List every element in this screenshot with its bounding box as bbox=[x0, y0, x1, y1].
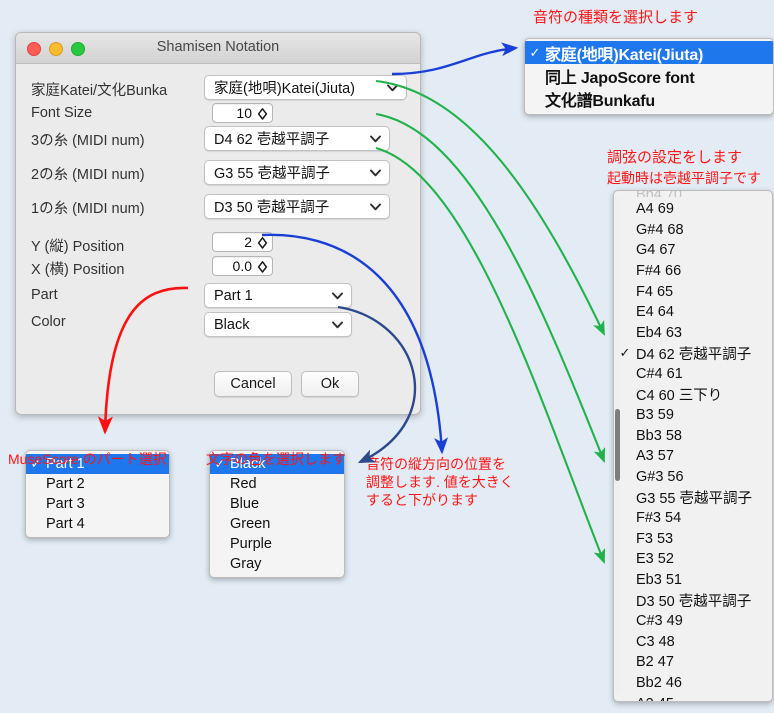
menu-item-label: F3 53 bbox=[636, 531, 673, 547]
menu-item-label: B3 59 bbox=[636, 407, 674, 423]
screen: Shamisen Notation 家庭Katei/文化Bunka Font S… bbox=[0, 0, 774, 713]
select-string-2[interactable]: G3 55 壱越平調子 bbox=[204, 160, 390, 185]
chevron-down-icon bbox=[329, 321, 345, 329]
menu-item-label: D4 62 壱越平調子 bbox=[636, 343, 751, 364]
chevron-down-icon bbox=[367, 135, 383, 143]
menu-item-label: Red bbox=[230, 476, 257, 492]
menu-item-label: Bb3 58 bbox=[636, 428, 682, 444]
chevron-down-icon bbox=[367, 203, 383, 211]
menu-item-tuning[interactable]: Eb4 63 bbox=[614, 323, 772, 344]
stepper-arrows-icon[interactable] bbox=[257, 107, 268, 119]
shamisen-notation-dialog: Shamisen Notation 家庭Katei/文化Bunka Font S… bbox=[15, 32, 421, 415]
select-part-value: Part 1 bbox=[214, 288, 329, 304]
menu-item-part-3[interactable]: Part 3 bbox=[26, 494, 169, 514]
menu-item-label: E3 52 bbox=[636, 551, 674, 567]
menu-item-tuning[interactable]: A3 57 bbox=[614, 446, 772, 467]
menu-item-gray[interactable]: Gray bbox=[210, 554, 344, 574]
ok-button[interactable]: Ok bbox=[301, 371, 359, 397]
menu-item-japoscore-font[interactable]: 同上 JapoScore font bbox=[525, 64, 773, 87]
tuning-menu-scrollbar-thumb[interactable] bbox=[615, 409, 620, 481]
menu-item-label: G3 55 壱越平調子 bbox=[636, 487, 752, 508]
menu-item-label: Part 3 bbox=[46, 496, 85, 512]
dialog-body: 家庭Katei/文化Bunka Font Size 3の糸 (MIDI num)… bbox=[16, 64, 420, 414]
annotation-color-select: 文字の色を選択します bbox=[206, 450, 346, 468]
menu-item-tuning[interactable]: D3 50 壱越平調子 bbox=[614, 590, 772, 611]
color-menu[interactable]: ✓ Black Red Blue Green Purple Gray bbox=[209, 450, 345, 578]
menu-item-label: G#4 68 bbox=[636, 222, 684, 238]
stepper-y-position-value: 2 bbox=[244, 234, 252, 250]
menu-item-label: Eb3 51 bbox=[636, 572, 682, 588]
menu-item-tuning[interactable]: F#4 66 bbox=[614, 261, 772, 282]
menu-item-label: 文化譜Bunkafu bbox=[545, 87, 655, 111]
menu-item-label: 家庭(地唄)Katei(Jiuta) bbox=[545, 41, 703, 65]
menu-item-label: G4 67 bbox=[636, 242, 676, 258]
select-string-3[interactable]: D4 62 壱越平調子 bbox=[204, 126, 390, 151]
annotation-tuning-line2: 起動時は壱越平調子です bbox=[607, 169, 761, 187]
stepper-y-position[interactable]: 2 bbox=[212, 232, 273, 252]
cancel-button[interactable]: Cancel bbox=[214, 371, 292, 397]
menu-item-tuning[interactable]: F3 53 bbox=[614, 529, 772, 550]
menu-item-tuning[interactable]: Bb2 46 bbox=[614, 673, 772, 694]
select-color[interactable]: Black bbox=[204, 312, 352, 337]
menu-item-tuning[interactable]: A4 69 bbox=[614, 199, 772, 220]
menu-item-tuning[interactable]: F4 65 bbox=[614, 281, 772, 302]
stepper-x-position[interactable]: 0.0 bbox=[212, 256, 273, 276]
menu-item-tuning[interactable]: F#3 54 bbox=[614, 508, 772, 529]
stepper-x-position-value: 0.0 bbox=[233, 258, 252, 274]
tuning-menu-inner: Bb4 70 A4 69G#4 68G4 67F#4 66F4 65E4 64E… bbox=[614, 191, 772, 701]
label-string-1: 1の糸 (MIDI num) bbox=[31, 197, 145, 218]
stepper-arrows-icon[interactable] bbox=[257, 260, 268, 272]
menu-item-tuning[interactable]: ✓D4 62 壱越平調子 bbox=[614, 343, 772, 364]
menu-item-tuning[interactable]: Bb3 58 bbox=[614, 426, 772, 447]
stepper-font-size-value: 10 bbox=[236, 105, 252, 121]
menu-item-tuning[interactable]: B3 59 bbox=[614, 405, 772, 426]
select-string-1[interactable]: D3 50 壱越平調子 bbox=[204, 194, 390, 219]
menu-item-label: Eb4 63 bbox=[636, 325, 682, 341]
menu-item-tuning[interactable]: E3 52 bbox=[614, 549, 772, 570]
menu-item-green[interactable]: Green bbox=[210, 514, 344, 534]
menu-item-part-2[interactable]: Part 2 bbox=[26, 474, 169, 494]
stepper-arrows-icon[interactable] bbox=[257, 236, 268, 248]
chevron-down-icon bbox=[384, 84, 400, 92]
label-string-3: 3の糸 (MIDI num) bbox=[31, 129, 145, 150]
menu-item-label: C4 60 三下り bbox=[636, 384, 722, 405]
menu-item-red[interactable]: Red bbox=[210, 474, 344, 494]
menu-item-tuning[interactable]: B2 47 bbox=[614, 652, 772, 673]
tuning-menu-scrolled-row: Bb4 70 bbox=[614, 190, 772, 197]
chevron-down-icon bbox=[329, 292, 345, 300]
menu-item-tuning[interactable]: C#3 49 bbox=[614, 611, 772, 632]
select-part[interactable]: Part 1 bbox=[204, 283, 352, 308]
menu-item-tuning[interactable]: G3 55 壱越平調子 bbox=[614, 487, 772, 508]
menu-item-label: G#3 56 bbox=[636, 469, 684, 485]
label-katei-bunka: 家庭Katei/文化Bunka bbox=[31, 79, 167, 100]
window-title: Shamisen Notation bbox=[16, 39, 420, 55]
menu-item-label: E4 64 bbox=[636, 304, 674, 320]
select-string-1-value: D3 50 壱越平調子 bbox=[214, 196, 367, 217]
menu-item-label: A2 45 bbox=[636, 696, 674, 702]
menu-item-label: Bb2 46 bbox=[636, 675, 682, 691]
label-font-size: Font Size bbox=[31, 105, 92, 121]
menu-item-tuning[interactable]: A2 45 bbox=[614, 693, 772, 702]
label-x-position: X (横) Position bbox=[31, 258, 124, 279]
menu-item-tuning[interactable]: C3 48 bbox=[614, 631, 772, 652]
label-part: Part bbox=[31, 287, 58, 303]
checkmark-icon: ✓ bbox=[525, 45, 545, 61]
tuning-midi-menu[interactable]: Bb4 70 A4 69G#4 68G4 67F#4 66F4 65E4 64E… bbox=[613, 190, 773, 702]
menu-item-katei-jiuta[interactable]: ✓ 家庭(地唄)Katei(Jiuta) bbox=[525, 41, 773, 64]
select-string-2-value: G3 55 壱越平調子 bbox=[214, 162, 367, 183]
menu-item-label: F#4 66 bbox=[636, 263, 681, 279]
menu-item-tuning[interactable]: G#3 56 bbox=[614, 467, 772, 488]
tuning-menu-rows: A4 69G#4 68G4 67F#4 66F4 65E4 64Eb4 63✓D… bbox=[614, 199, 772, 702]
menu-item-blue[interactable]: Blue bbox=[210, 494, 344, 514]
menu-item-label: F#3 54 bbox=[636, 510, 681, 526]
menu-item-label: C3 48 bbox=[636, 634, 675, 650]
label-y-position: Y (縦) Position bbox=[31, 235, 124, 256]
menu-item-label: Blue bbox=[230, 496, 259, 512]
menu-item-label: A3 57 bbox=[636, 448, 674, 464]
menu-item-part-4[interactable]: Part 4 bbox=[26, 514, 169, 534]
menu-item-label: B2 47 bbox=[636, 654, 674, 670]
menu-item-tuning[interactable]: C#4 61 bbox=[614, 364, 772, 385]
annotation-y-position: 音符の縦方向の位置を 調整します. 値を大きく すると下がります bbox=[366, 455, 514, 509]
menu-item-purple[interactable]: Purple bbox=[210, 534, 344, 554]
menu-item-label: A4 69 bbox=[636, 201, 674, 217]
annotation-part-select: MuseScore のパート選択 bbox=[8, 450, 167, 468]
chevron-down-icon bbox=[367, 169, 383, 177]
menu-item-label: C#3 49 bbox=[636, 613, 683, 629]
dialog-titlebar[interactable]: Shamisen Notation bbox=[16, 33, 420, 64]
select-katei-bunka-value: 家庭(地唄)Katei(Jiuta) bbox=[214, 77, 384, 98]
menu-item-tuning[interactable]: G4 67 bbox=[614, 240, 772, 261]
menu-item-label: 同上 JapoScore font bbox=[545, 64, 695, 88]
menu-item-tuning[interactable]: C4 60 三下り bbox=[614, 384, 772, 405]
select-string-3-value: D4 62 壱越平調子 bbox=[214, 128, 367, 149]
menu-item-label: F4 65 bbox=[636, 284, 673, 300]
notation-type-menu[interactable]: ✓ 家庭(地唄)Katei(Jiuta) 同上 JapoScore font 文… bbox=[524, 38, 774, 115]
menu-item-label: Green bbox=[230, 516, 270, 532]
menu-item-label: Part 2 bbox=[46, 476, 85, 492]
menu-item-label: Part 4 bbox=[46, 516, 85, 532]
menu-item-label: D3 50 壱越平調子 bbox=[636, 590, 751, 611]
menu-item-tuning[interactable]: G#4 68 bbox=[614, 220, 772, 241]
annotation-notation-type: 音符の種類を選択します bbox=[533, 8, 698, 27]
select-katei-bunka[interactable]: 家庭(地唄)Katei(Jiuta) bbox=[204, 75, 407, 100]
menu-item-label: C#4 61 bbox=[636, 366, 683, 382]
menu-item-label: Purple bbox=[230, 536, 272, 552]
menu-item-bunkafu[interactable]: 文化譜Bunkafu bbox=[525, 87, 773, 110]
select-color-value: Black bbox=[214, 317, 329, 333]
menu-item-tuning[interactable]: Eb3 51 bbox=[614, 570, 772, 591]
annotation-tuning-line1: 調弦の設定をします bbox=[607, 148, 742, 167]
label-string-2: 2の糸 (MIDI num) bbox=[31, 163, 145, 184]
menu-item-label: Gray bbox=[230, 556, 261, 572]
stepper-font-size[interactable]: 10 bbox=[212, 103, 273, 123]
label-color: Color bbox=[31, 314, 66, 330]
menu-item-tuning[interactable]: E4 64 bbox=[614, 302, 772, 323]
